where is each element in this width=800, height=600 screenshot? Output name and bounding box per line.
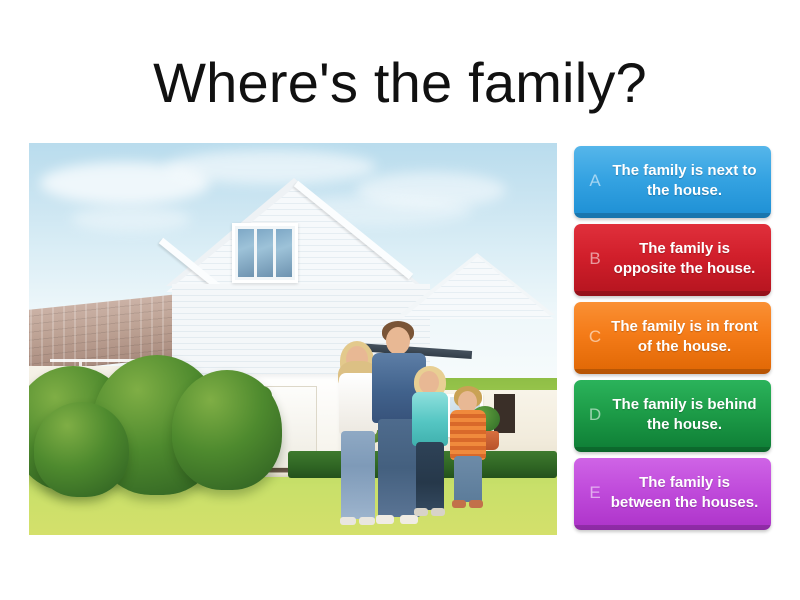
answer-option-e[interactable]: E The family is between the houses. xyxy=(574,458,771,530)
house-photo-scene xyxy=(29,143,557,535)
answer-option-c[interactable]: C The family is in front of the house. xyxy=(574,302,771,374)
dormer-window xyxy=(232,223,298,283)
answer-text-a: The family is next to the house. xyxy=(608,161,763,199)
answer-options-list: A The family is next to the house. B The… xyxy=(574,146,771,536)
window-pane xyxy=(238,229,254,277)
shoe xyxy=(469,500,483,508)
shoe xyxy=(452,500,466,508)
torso xyxy=(450,410,486,460)
person-girl xyxy=(409,366,453,518)
answer-text-d: The family is behind the house. xyxy=(608,395,763,433)
answer-text-c: The family is in front of the house. xyxy=(608,317,763,355)
torso xyxy=(412,392,448,446)
shoe xyxy=(340,517,356,525)
page-title: Where's the family? xyxy=(0,52,800,114)
answer-letter-c: C xyxy=(582,327,608,347)
shoe xyxy=(376,515,394,524)
shoe xyxy=(431,508,445,516)
legs xyxy=(416,442,444,510)
answer-letter-b: B xyxy=(582,249,608,269)
answer-letter-d: D xyxy=(582,405,608,425)
answer-option-b[interactable]: B The family is opposite the house. xyxy=(574,224,771,296)
window-pane xyxy=(257,229,273,277)
answer-option-a[interactable]: A The family is next to the house. xyxy=(574,146,771,218)
answer-letter-e: E xyxy=(582,483,608,503)
shoe xyxy=(414,508,428,516)
answer-option-d[interactable]: D The family is behind the house. xyxy=(574,380,771,452)
bush xyxy=(34,402,129,497)
answer-text-e: The family is between the houses. xyxy=(608,473,763,511)
head xyxy=(386,327,410,355)
window-pane xyxy=(276,229,292,277)
question-image xyxy=(29,143,557,535)
bush xyxy=(172,370,282,490)
answer-text-b: The family is opposite the house. xyxy=(608,239,763,277)
legs xyxy=(454,456,482,502)
answer-letter-a: A xyxy=(582,171,608,191)
person-boy xyxy=(449,386,489,518)
